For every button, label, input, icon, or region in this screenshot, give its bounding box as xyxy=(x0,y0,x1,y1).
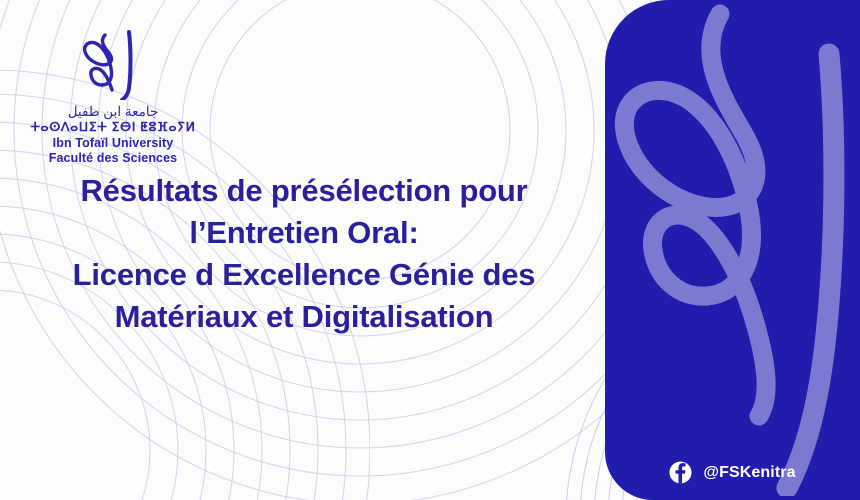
ibn-tofail-calligraphy-mark-icon xyxy=(74,26,152,100)
logo-university-name: Ibn Tofaïl University xyxy=(28,136,198,151)
poster-canvas: @FSKenitra جامعة ابن طفيل ⵜⴰⵙⴷⴰⵡⵉⵜ ⵉⴱⵏ ⵟ… xyxy=(0,0,860,500)
headline-line-2: l’Entretien Oral: xyxy=(8,212,600,254)
page-title: Résultats de présélection pour l’Entreti… xyxy=(0,170,608,339)
university-logo: جامعة ابن طفيل ⵜⴰⵙⴷⴰⵡⵉⵜ ⵉⴱⵏ ⵟⵓⴼⴰⵢⵍ Ibn T… xyxy=(28,26,198,166)
logo-tifinagh-text: ⵜⴰⵙⴷⴰⵡⵉⵜ ⵉⴱⵏ ⵟⵓⴼⴰⵢⵍ xyxy=(28,120,198,135)
social-handle-text: @FSKenitra xyxy=(703,464,795,482)
headline-line-1: Résultats de présélection pour xyxy=(8,170,600,212)
brand-panel: @FSKenitra xyxy=(605,0,860,500)
facebook-icon[interactable] xyxy=(669,461,692,484)
headline-line-4: Matériaux et Digitalisation xyxy=(8,296,600,338)
logo-faculty-name: Faculté des Sciences xyxy=(28,151,198,166)
logo-arabic-text: جامعة ابن طفيل xyxy=(28,104,198,120)
social-footer[interactable]: @FSKenitra xyxy=(605,461,860,484)
headline-line-3: Licence d Excellence Génie des xyxy=(8,254,600,296)
calligraphy-watermark-icon xyxy=(605,0,860,496)
